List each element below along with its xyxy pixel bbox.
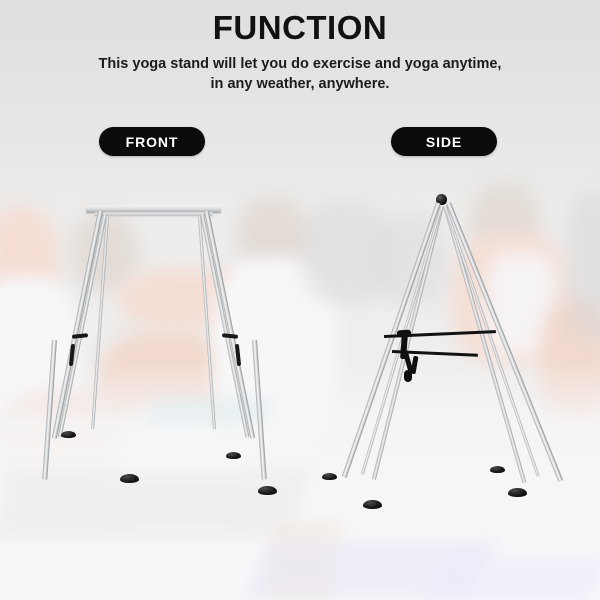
leg-lock-clamp-left [72, 333, 88, 339]
strap-carabiner [404, 370, 412, 382]
side-right-leg-outer [446, 202, 563, 482]
rubber-foot-front-left-near [61, 431, 76, 438]
rubber-foot-front-right-near [226, 452, 241, 459]
side-right-leg-inner [443, 206, 526, 484]
rubber-foot-side-left-far [363, 500, 382, 509]
side-left-leg-inner [372, 206, 444, 480]
side-right-rear-leg [445, 210, 540, 478]
side-left-leg-outer [342, 202, 441, 478]
front-right-leg-extension [252, 340, 266, 480]
rubber-foot-front-left-far [120, 474, 139, 483]
strap-buckle-knot [397, 330, 411, 338]
front-left-leg-extension [42, 340, 56, 480]
rubber-foot-front-right-far [258, 486, 277, 495]
rubber-foot-side-right-far [508, 488, 527, 497]
rubber-foot-side-right-near [490, 466, 505, 473]
yoga-stand-front-view [0, 0, 300, 600]
rubber-foot-side-left-near [322, 473, 337, 480]
yoga-stand-side-view [300, 0, 600, 600]
product-feature-poster: FUNCTION This yoga stand will let you do… [0, 0, 600, 600]
top-beam-underside [94, 212, 213, 216]
